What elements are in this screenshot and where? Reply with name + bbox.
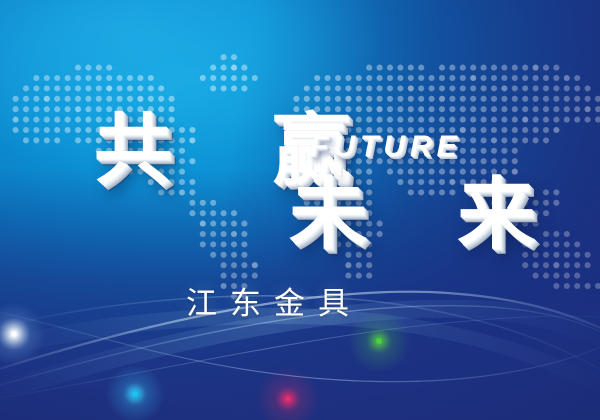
subheadline-future: FUTURE bbox=[310, 130, 462, 164]
headline-char-gongying-1: 共 bbox=[94, 106, 172, 196]
headline-line-2: 未 来 bbox=[289, 176, 535, 254]
promotional-banner: 共 赢 FUTURE 未 来 江东金具 bbox=[0, 0, 600, 420]
headline-char-weilai-2: 来 bbox=[457, 170, 535, 260]
headline-char-weilai-1: 未 bbox=[289, 170, 367, 260]
company-name: 江东金具 bbox=[186, 278, 362, 323]
